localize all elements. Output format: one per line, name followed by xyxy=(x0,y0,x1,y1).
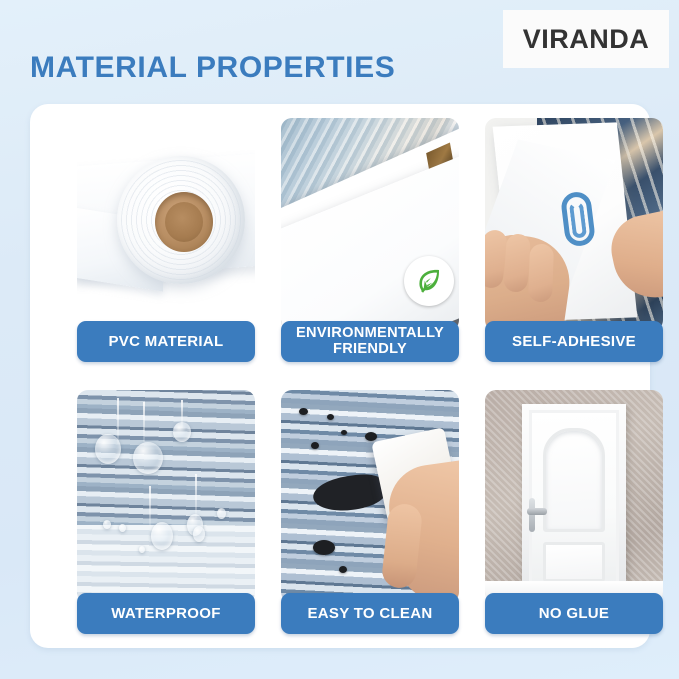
feature-grid: PVC MATERIAL ENVIRONMENTAL xyxy=(77,118,663,634)
feature-tile-self-adhesive[interactable]: SELF-ADHESIVE xyxy=(485,118,663,362)
feature-label-waterproof: WATERPROOF xyxy=(77,593,255,634)
feature-tile-pvc-material[interactable]: PVC MATERIAL xyxy=(77,118,255,362)
feature-label-environmentally-friendly: ENVIRONMENTALLY FRIENDLY xyxy=(281,321,459,362)
feature-label-self-adhesive: SELF-ADHESIVE xyxy=(485,321,663,362)
easy-to-clean-image xyxy=(281,390,459,603)
feature-label-pvc-material: PVC MATERIAL xyxy=(77,321,255,362)
brand-name: VIRANDA xyxy=(523,24,650,55)
pvc-roll-image xyxy=(77,118,255,331)
waterproof-image xyxy=(77,390,255,603)
self-adhesive-image xyxy=(485,118,663,331)
leaf-icon xyxy=(404,256,454,306)
eco-wallpaper-image xyxy=(281,118,459,331)
feature-tile-easy-to-clean[interactable]: EASY TO CLEAN xyxy=(281,390,459,634)
feature-tile-waterproof[interactable]: WATERPROOF xyxy=(77,390,255,634)
no-glue-door-image xyxy=(485,390,663,603)
feature-tile-no-glue[interactable]: NO GLUE xyxy=(485,390,663,634)
brand-logo: VIRANDA xyxy=(503,10,669,68)
page-title: MATERIAL PROPERTIES xyxy=(30,51,395,85)
feature-tile-environmentally-friendly[interactable]: ENVIRONMENTALLY FRIENDLY xyxy=(281,118,459,362)
feature-label-easy-to-clean: EASY TO CLEAN xyxy=(281,593,459,634)
feature-label-no-glue: NO GLUE xyxy=(485,593,663,634)
features-card: PVC MATERIAL ENVIRONMENTAL xyxy=(30,104,650,648)
